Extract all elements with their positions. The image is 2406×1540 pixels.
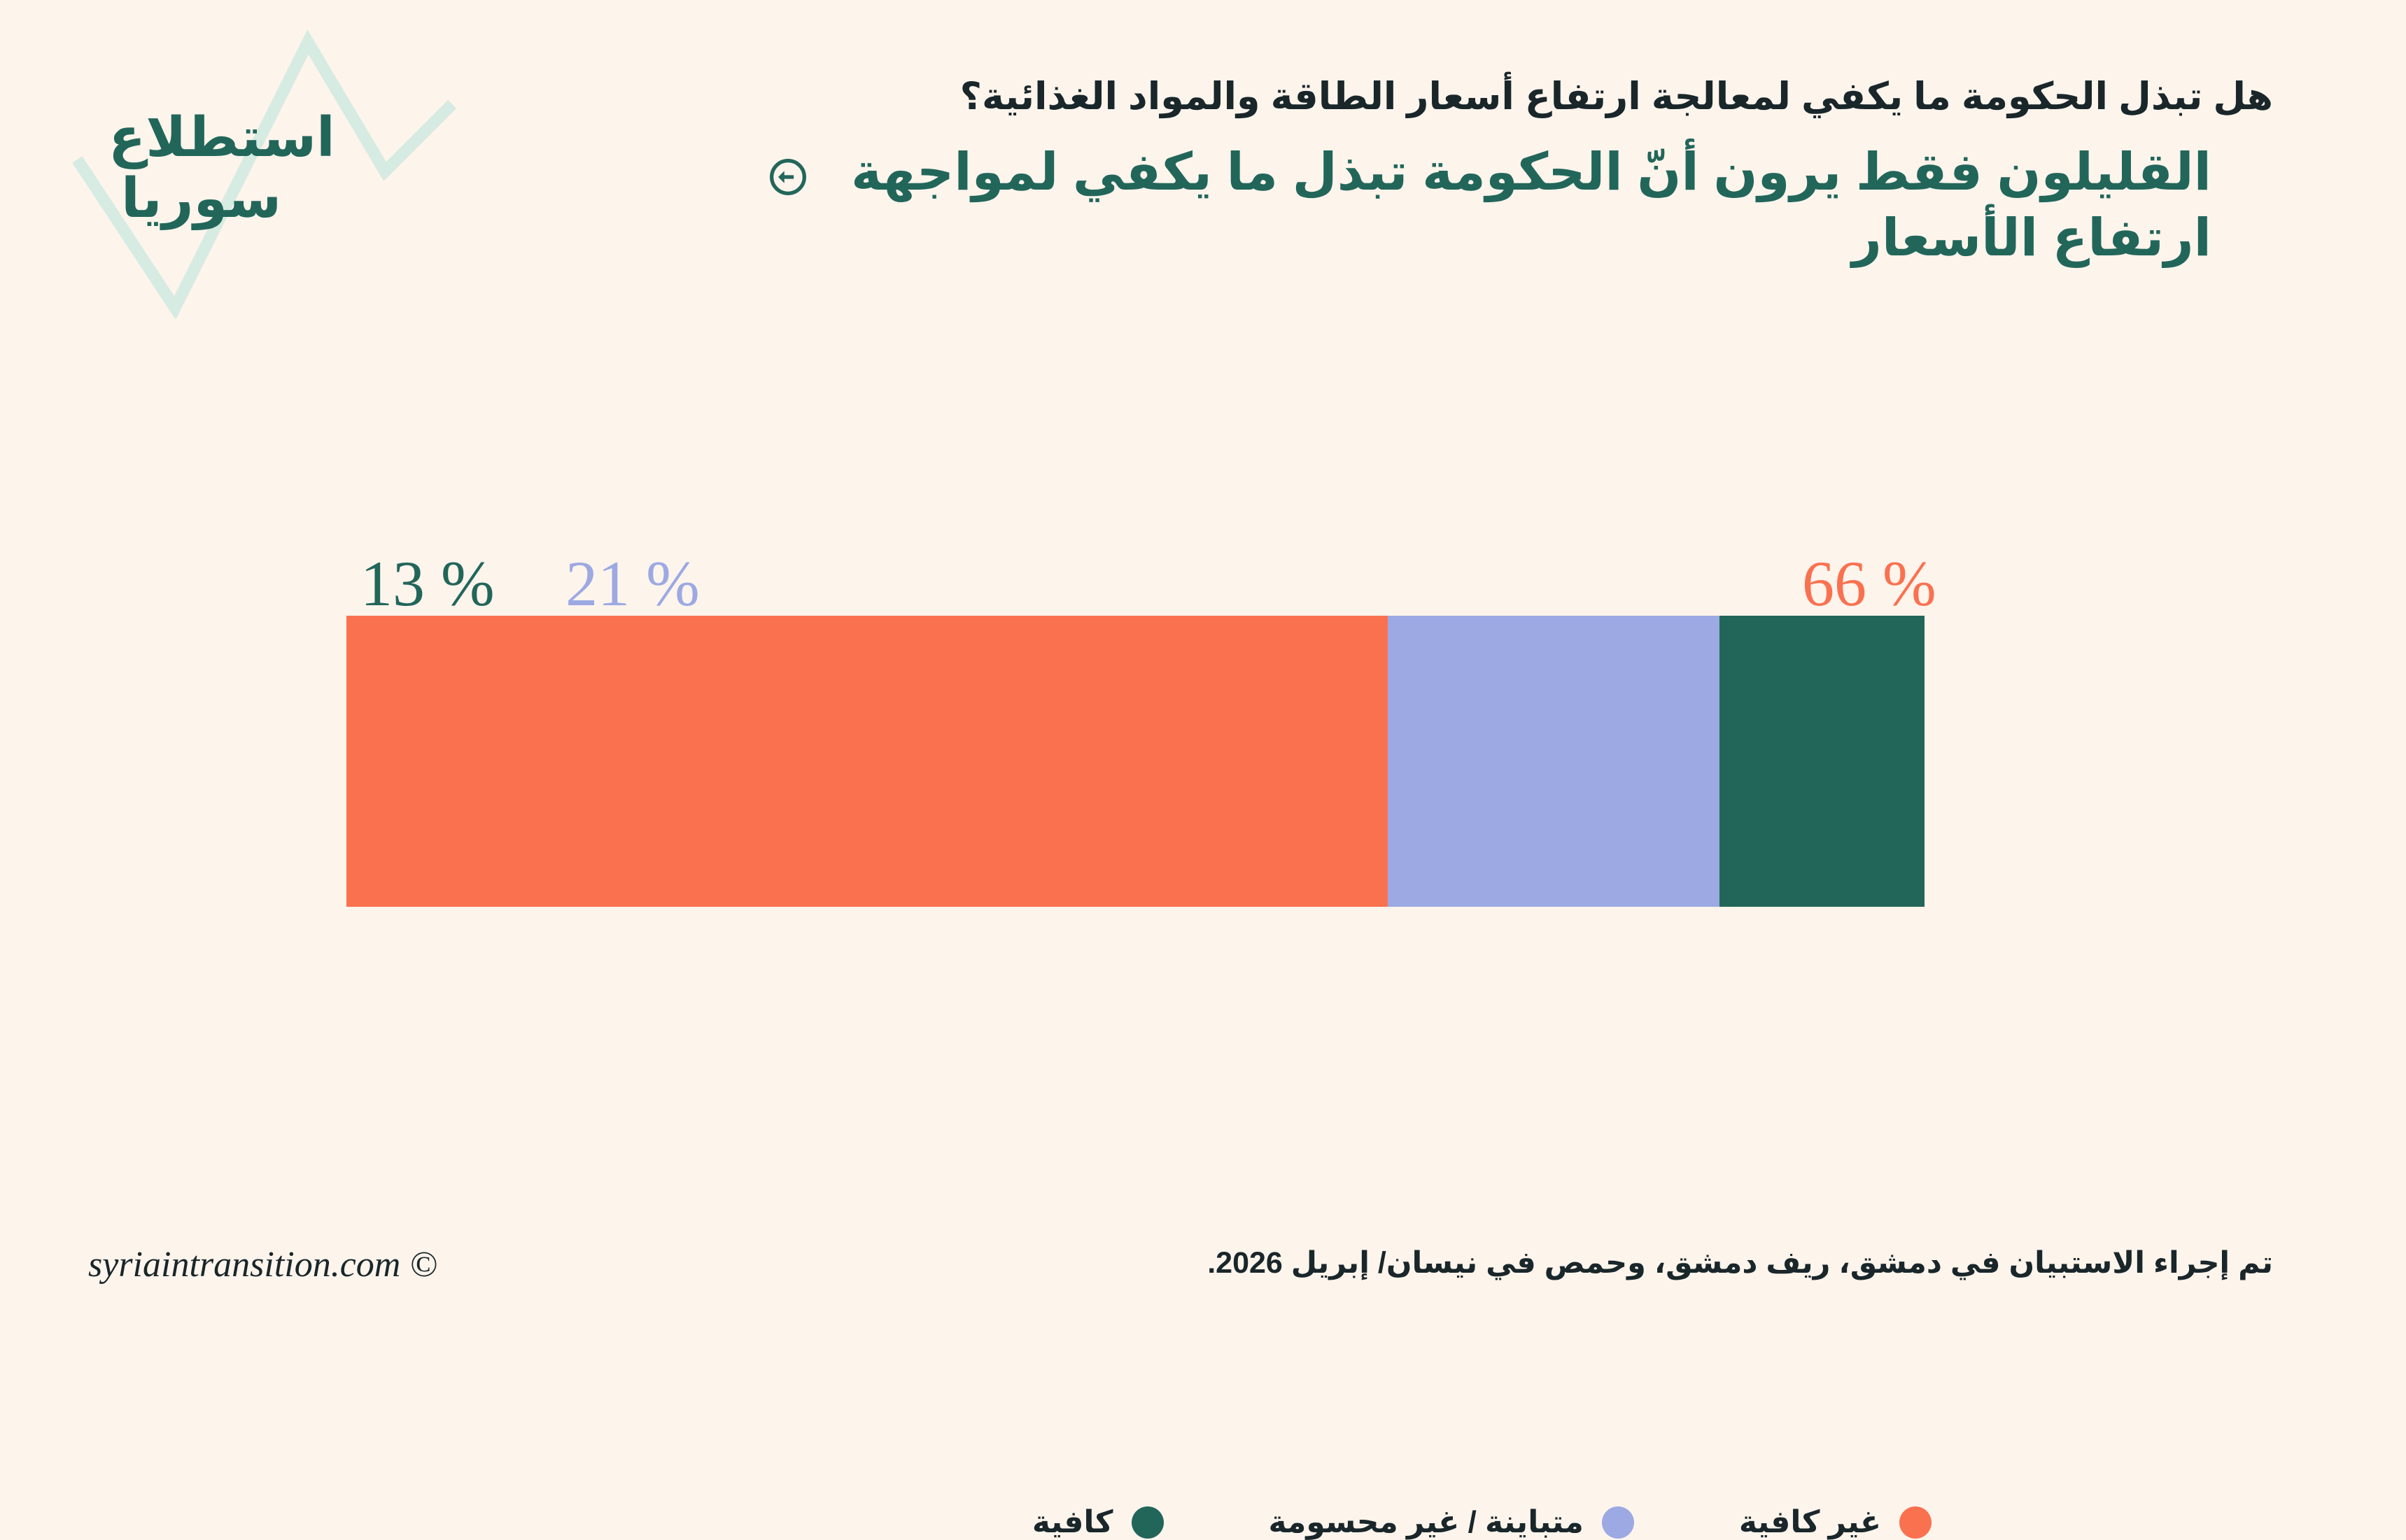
chart-bar [346,616,1925,907]
bar-segment-ghayr-kafiya[interactable] [346,616,1388,907]
legend-dot-kafiya-icon [1132,1506,1164,1539]
legend-dot-ghayr-kafiya-icon [1899,1506,1932,1539]
legend-label-ghayr-kafiya: غير كافية [1739,1504,1881,1540]
headline-text: القليلون فقط يرون أنّ الحكومة تبذل ما يك… [826,139,2211,271]
brand-logo-text: استطلاع سوريا [66,17,472,318]
chart-legend: كافية متباينة / غير محسومة غير كافية [693,1504,2271,1540]
value-label-kafiya: 13 % [360,551,495,616]
legend-dot-mutabayina-icon [1602,1506,1634,1539]
headline-row: القليلون فقط يرون أنّ الحكومة تبذل ما يك… [768,139,2273,271]
survey-question: هل تبذل الحكومة ما يكفي لمعالجة ارتفاع أ… [768,73,2273,121]
bar-segment-kafiya[interactable] [1719,616,1925,907]
arrow-left-circle-icon [768,157,808,197]
bar-segment-mutabayina[interactable] [1388,616,1719,907]
value-label-mutabayina: 21 % [565,551,700,616]
survey-methodology-note: تم إجراء الاستبيان في دمشق، ريف دمشق، وح… [1207,1245,2273,1280]
legend-label-kafiya: كافية [1032,1504,1113,1540]
chart-value-labels: 13 % 21 % 66 % [346,518,1925,616]
infographic-canvas: استطلاع سوريا هل تبذل الحكومة ما يكفي لم… [0,0,2406,1353]
brand-logo: استطلاع سوريا [66,17,472,318]
stacked-bar-chart: 13 % 21 % 66 % كافية متباينة / غير محسوم… [346,518,1925,907]
legend-item-mutabayina[interactable]: متباينة / غير محسومة [1269,1504,1634,1540]
site-credit: syriaintransition.com © [88,1244,437,1285]
header-block: هل تبذل الحكومة ما يكفي لمعالجة ارتفاع أ… [768,73,2273,271]
legend-label-mutabayina: متباينة / غير محسومة [1269,1504,1584,1540]
legend-item-kafiya[interactable]: كافية [1032,1504,1164,1540]
brand-logo-line-2: سوريا [108,169,281,227]
brand-logo-line-1: استطلاع [108,108,335,167]
legend-item-ghayr-kafiya[interactable]: غير كافية [1739,1504,1932,1540]
value-label-ghayr-kafiya: 66 % [1802,551,1936,616]
